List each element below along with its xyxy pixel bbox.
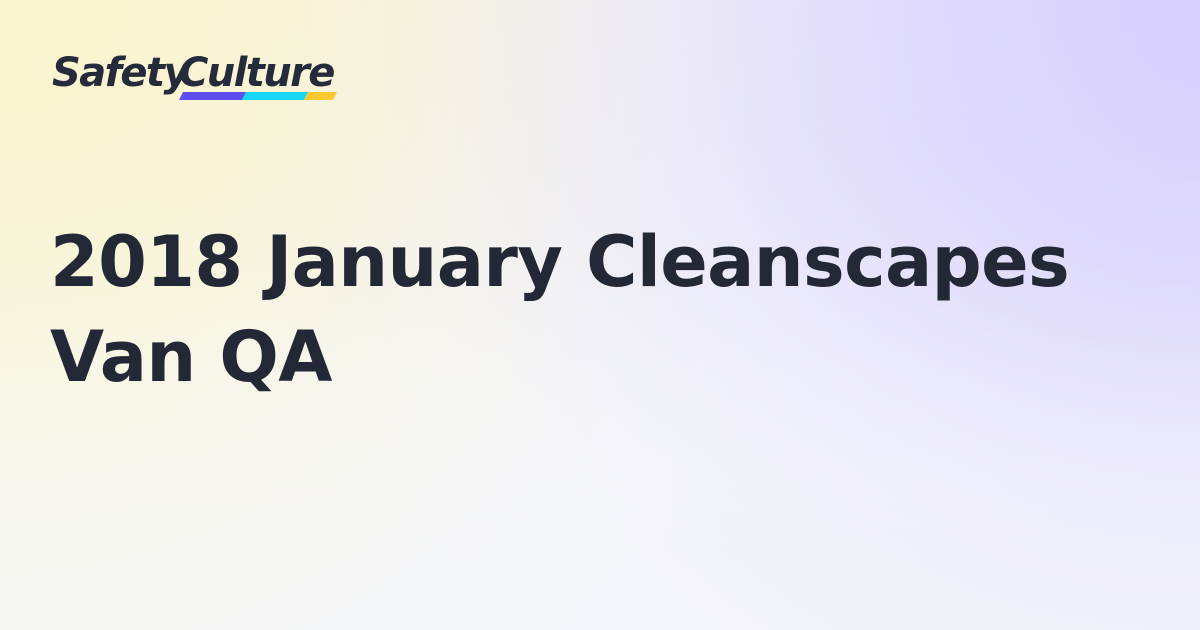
logo-svg: Safety Culture <box>52 50 337 102</box>
logo-underline-cyan-segment <box>242 92 308 100</box>
logo-underline <box>179 92 337 100</box>
logo-wordmark-safety: Safety <box>52 50 191 96</box>
logo-underline-yellow-segment <box>304 92 337 100</box>
page-title: 2018 January Cleanscapes Van QA <box>50 215 1140 405</box>
safetyculture-logo: Safety Culture <box>52 50 337 102</box>
logo-underline-purple-segment <box>179 92 246 100</box>
og-preview-card: Safety Culture 2018 January Cleanscapes … <box>0 0 1200 630</box>
logo-wordmark-culture: Culture <box>179 50 334 96</box>
